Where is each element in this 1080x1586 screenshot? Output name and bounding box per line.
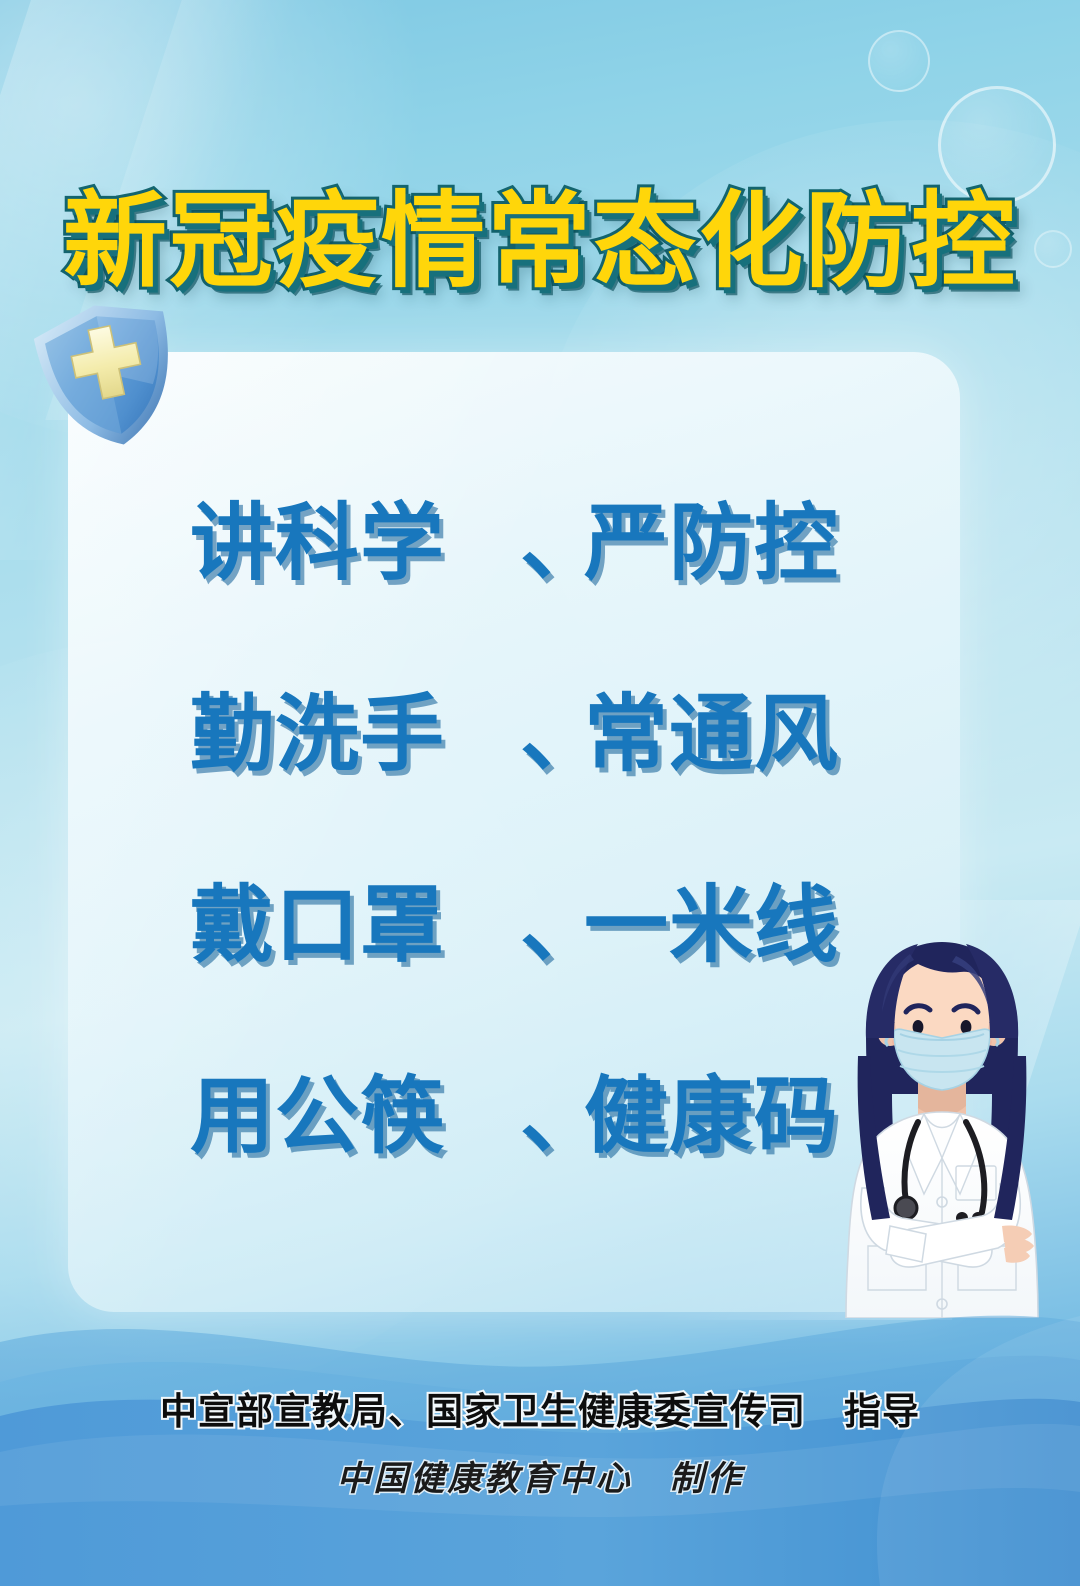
slogan-right-text: 严防控 — [584, 476, 839, 597]
shield-with-cross-icon — [22, 286, 196, 463]
slogan-right-text: 一米线 — [584, 858, 839, 979]
slogan-separator: 、 — [520, 476, 584, 597]
slogan-list: 讲科学 、 严防控 勤洗手 、 常通风 戴口罩 、 一米线 用公筷 、 健康码 — [190, 476, 890, 1170]
slogan-right-text: 常通风 — [584, 667, 839, 788]
slogan-line: 戴口罩 、 一米线 — [190, 858, 890, 979]
footer-guidance-text: 中宣部宣教局、国家卫生健康委宣传司 指导 — [0, 1381, 1080, 1435]
slogan-separator: 、 — [520, 667, 584, 788]
slogan-left-text: 戴口罩 — [190, 858, 520, 979]
slogan-right-text: 健康码 — [584, 1049, 839, 1170]
slogan-line: 讲科学 、 严防控 — [190, 476, 890, 597]
slogan-line: 用公筷 、 健康码 — [190, 1049, 890, 1170]
slogan-left-text: 用公筷 — [190, 1049, 520, 1170]
page-title: 新冠疫情常态化防控 — [0, 186, 1080, 296]
slogan-left-text: 讲科学 — [190, 476, 520, 597]
poster-canvas: 新冠疫情常态化防控 — [0, 0, 1080, 1586]
slogan-separator: 、 — [520, 858, 584, 979]
bubble-decoration-icon — [868, 30, 930, 92]
slogan-line: 勤洗手 、 常通风 — [190, 667, 890, 788]
slogan-left-text: 勤洗手 — [190, 667, 520, 788]
footer-producer-text: 中国健康教育中心 制作 — [0, 1451, 1080, 1500]
slogan-separator: 、 — [520, 1049, 584, 1170]
footer: 中宣部宣教局、国家卫生健康委宣传司 指导 中国健康教育中心 制作 — [0, 1381, 1080, 1500]
